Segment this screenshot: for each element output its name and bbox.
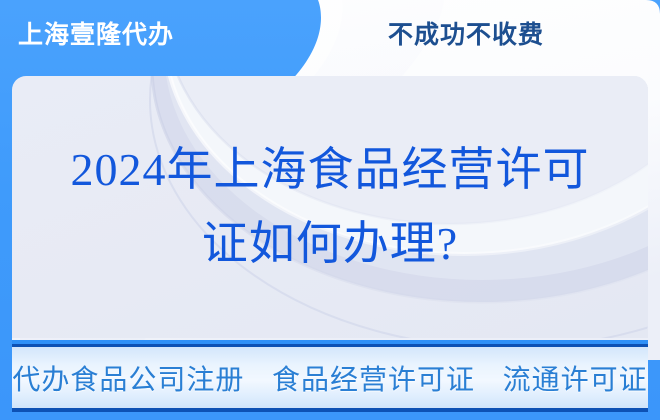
brand-label: 上海壹隆代办: [18, 18, 174, 52]
main-title: 2024年上海食品经营许可 证如何办理?: [12, 76, 648, 338]
keyword-bar-top-highlight: [12, 340, 648, 344]
title-line-1: 2024年上海食品经营许可: [71, 133, 590, 207]
keyword-item-1: 代办食品公司注册: [12, 364, 244, 395]
keyword-bar: 代办食品公司注册 食品经营许可证 流通许可证: [12, 344, 648, 412]
promo-banner: 上海壹隆代办 不成功不收费: [0, 0, 660, 420]
keyword-list: 代办食品公司注册 食品经营许可证 流通许可证: [12, 358, 647, 398]
keyword-item-3: 流通许可证: [503, 364, 648, 395]
content-card: 2024年上海食品经营许可 证如何办理?: [12, 76, 648, 338]
banner-header: 上海壹隆代办 不成功不收费: [0, 0, 660, 76]
keyword-item-2: 食品经营许可证: [272, 364, 475, 395]
title-line-2: 证如何办理?: [202, 207, 458, 281]
slogan-label: 不成功不收费: [388, 17, 544, 53]
